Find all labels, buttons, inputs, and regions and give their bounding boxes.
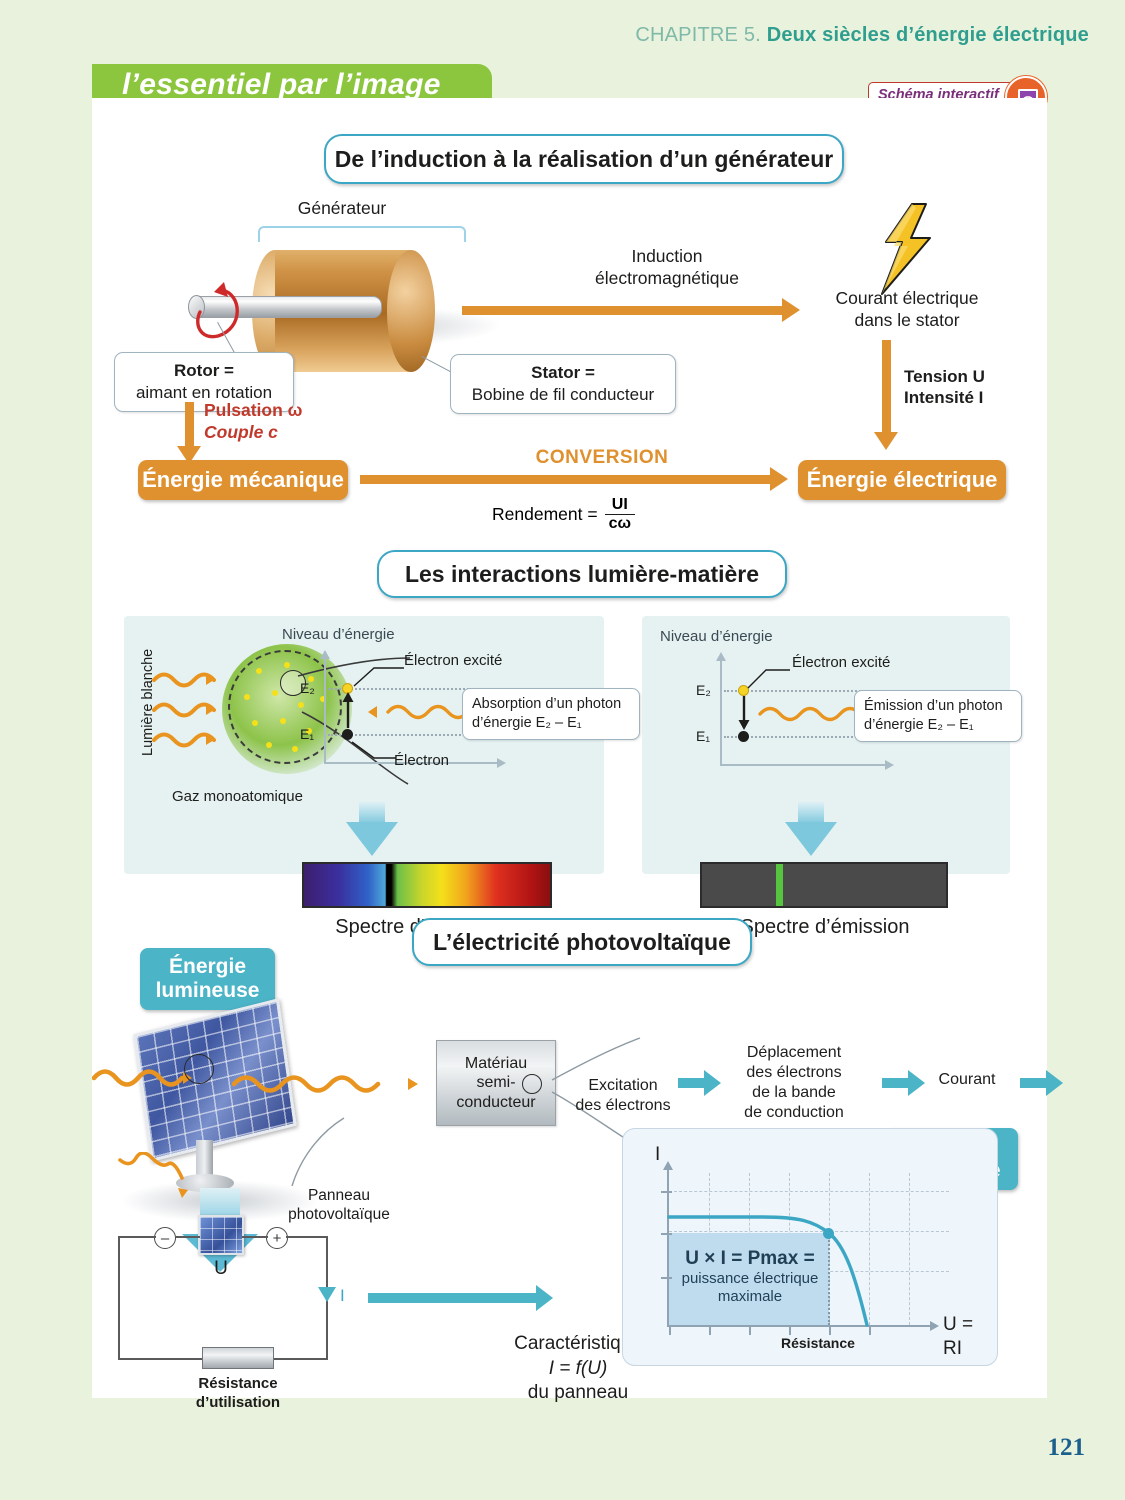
down-arrow-head-left xyxy=(346,822,398,856)
lightning-bolt-icon xyxy=(878,202,938,298)
section-light-matter: Les interactions lumière-matière Lumière… xyxy=(92,518,1047,878)
drum-right-cap xyxy=(387,250,435,372)
circuit-to-characteristic-arrow xyxy=(368,1293,538,1303)
tension-arrow xyxy=(882,340,891,434)
photovoltaic-circuit: U – + Résistance d’utilisation I xyxy=(92,1193,512,1393)
section1-title: De l’induction à la réalisation d’un gén… xyxy=(324,134,844,184)
page-number: 121 xyxy=(1048,1434,1086,1462)
chart-xlabel: U = RI xyxy=(943,1313,997,1361)
pulsation-arrow xyxy=(185,402,194,448)
down-arrow-head-right xyxy=(785,822,837,856)
pulsation-label: Pulsation ω Couple c xyxy=(204,400,302,444)
tension-label: Tension U Intensité I xyxy=(904,366,985,409)
induction-arrow xyxy=(462,306,784,315)
level-e2-label-right: E₂ xyxy=(696,682,711,698)
energy-axis-v-left xyxy=(324,658,326,762)
electron-label-left: Électron xyxy=(394,752,449,771)
level-e1-label-left: E₁ xyxy=(300,726,314,742)
current-label-circuit: I xyxy=(340,1285,345,1306)
rotation-arrow-icon xyxy=(188,274,260,352)
panel-to-semiconductor-wave-icon xyxy=(230,1064,428,1104)
wire-bottom-left xyxy=(118,1358,204,1360)
down-arrow-stem-right xyxy=(798,802,824,824)
absorption-callout: Absorption d’un photon d’énergie E₂ – E₁ xyxy=(462,688,640,740)
excited-electron-label-left: Électron excité xyxy=(404,652,502,671)
pmax-formula: U × I = Pmax = xyxy=(671,1247,829,1270)
courant-label: Courant xyxy=(922,1070,1012,1090)
displacement-label: Déplacement des électrons de la bande de… xyxy=(712,1043,876,1123)
resistor xyxy=(202,1347,274,1369)
chapter-prefix: CHAPITRE 5. xyxy=(635,24,761,46)
stator-callout: Stator = Bobine de fil conducteur xyxy=(450,354,676,414)
mechanical-energy-pill: Énergie mécanique xyxy=(138,460,348,500)
energy-axis-label-left: Niveau d’énergie xyxy=(282,626,395,645)
transition-down-arrow xyxy=(736,696,752,732)
current-direction-marker xyxy=(318,1287,336,1302)
section2-title: Les interactions lumière-matière xyxy=(377,550,787,598)
panel-leader-line xyxy=(278,1116,350,1192)
energy-axis-label-right: Niveau d’énergie xyxy=(660,628,773,647)
electron-dot-right xyxy=(738,731,749,742)
excited-leader-right xyxy=(746,662,794,692)
emission-panel: Niveau d’énergie E₂ E₁ Électron excité xyxy=(642,616,1010,874)
emission-callout: Émission d’un photon d’énergie E₂ – E₁ xyxy=(854,690,1022,742)
arrow-displacement-to-current xyxy=(882,1078,910,1088)
wire-cell-left xyxy=(176,1236,200,1238)
section-generator: De l’induction à la réalisation d’un gén… xyxy=(92,98,1047,518)
level-e1-label-right: E₁ xyxy=(696,728,710,744)
light-energy-pill: Énergie lumineuse xyxy=(140,948,275,1010)
photon-impact-circle xyxy=(184,1054,214,1084)
chapter-header: CHAPITRE 5. Deux siècles d’énergie élect… xyxy=(635,24,1089,47)
pv-cell xyxy=(198,1215,244,1255)
wire-top-left xyxy=(118,1236,156,1238)
voltage-label: U xyxy=(196,1257,246,1281)
wire-top-right xyxy=(286,1236,328,1238)
arrow-excitation-to-displacement xyxy=(678,1078,706,1088)
excitation-label: Excitation des électrons xyxy=(558,1076,688,1116)
conversion-label: CONVERSION xyxy=(482,446,722,470)
excited-leader-left xyxy=(352,660,410,690)
resistor-label: Résistance d’utilisation xyxy=(176,1375,300,1413)
generator-bracket xyxy=(258,226,466,242)
wire-cell-right xyxy=(242,1236,268,1238)
down-arrow-stem-left xyxy=(359,802,385,824)
generator-label: Générateur xyxy=(222,198,462,220)
energy-axis-h-right xyxy=(720,764,886,766)
electron-leader-left xyxy=(350,738,400,764)
page-content-area: De l’induction à la réalisation d’un gén… xyxy=(92,98,1047,1398)
electrical-energy-pill: Énergie électrique xyxy=(798,460,1006,500)
chapter-title: Deux siècles d’énergie électrique xyxy=(767,24,1089,46)
arrow-current-to-energy xyxy=(1020,1078,1048,1088)
transition-up-arrow xyxy=(340,692,356,730)
chart-xaxis-note: Résistance xyxy=(781,1335,855,1353)
energy-axis-v-right xyxy=(720,660,722,764)
iv-characteristic-chart: I U × I = Pmax = xyxy=(622,1128,998,1366)
positive-terminal: + xyxy=(266,1227,288,1249)
conversion-arrow xyxy=(360,475,772,484)
negative-terminal: – xyxy=(154,1227,176,1249)
level-e2-label-left: E₂ xyxy=(300,680,315,696)
pmax-annotation: U × I = Pmax = puissance électrique maxi… xyxy=(671,1247,829,1307)
max-power-point xyxy=(823,1228,834,1239)
gas-label: Gaz monoatomique xyxy=(172,788,303,807)
current-label: Courant électrique dans le stator xyxy=(782,288,1032,332)
section3-title: L’électricité photovoltaïque xyxy=(412,918,752,966)
wire-left xyxy=(118,1236,120,1360)
wire-bottom-right xyxy=(272,1358,328,1360)
excited-electron-label-right: Électron excité xyxy=(792,654,890,673)
induction-label: Induction électromagnétique xyxy=(532,246,802,290)
absorption-panel: Lumière blanche xyxy=(124,616,604,874)
